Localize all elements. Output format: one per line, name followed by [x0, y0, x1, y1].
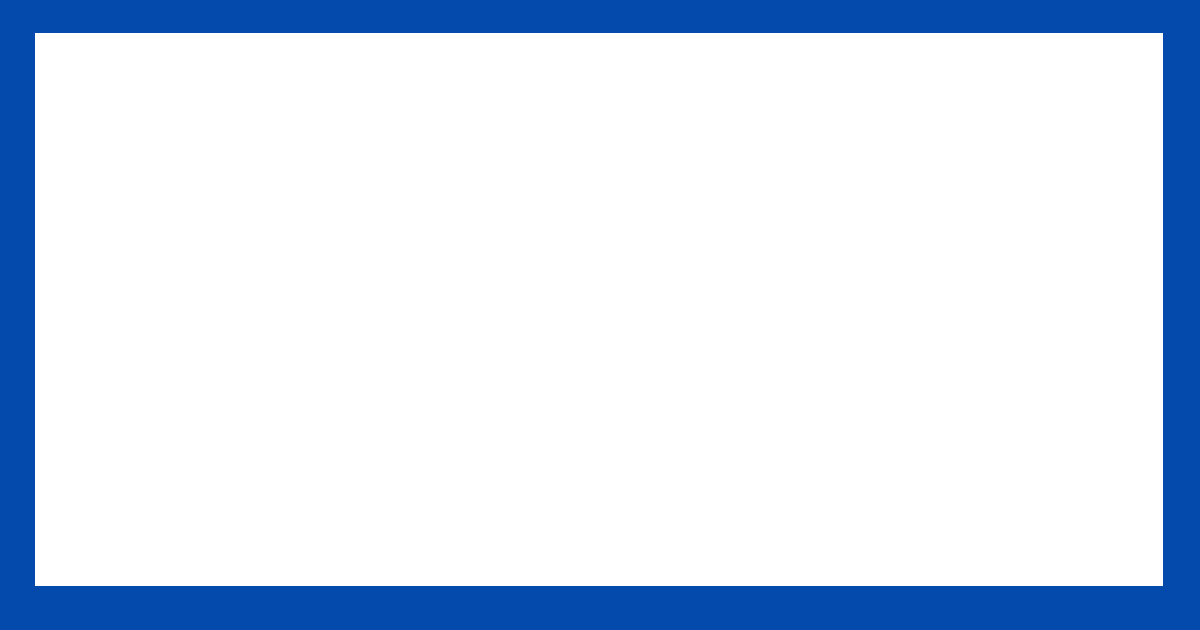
- subhead-line-1: 【STEP式・逆転合格の: [35, 354, 1163, 450]
- poster-white-panel: 学校で「無理だ」と言われた君へ。 合計点が同じでも合否は変わる 【STEP式・逆…: [35, 33, 1163, 586]
- headline-line-2: 合計点が同じでも合否は変わる: [35, 139, 1163, 239]
- subhead-block: 【STEP式・逆転合格の 優先順位戦略】: [35, 354, 1163, 546]
- poster-canvas: 学校で「無理だ」と言われた君へ。 合計点が同じでも合否は変わる 【STEP式・逆…: [0, 0, 1200, 630]
- headline-line-1: 学校で「無理だ」と言われた君へ。: [35, 39, 1163, 139]
- subhead-line-2: 優先順位戦略】: [35, 450, 1163, 546]
- headline-block: 学校で「無理だ」と言われた君へ。 合計点が同じでも合否は変わる: [35, 39, 1163, 239]
